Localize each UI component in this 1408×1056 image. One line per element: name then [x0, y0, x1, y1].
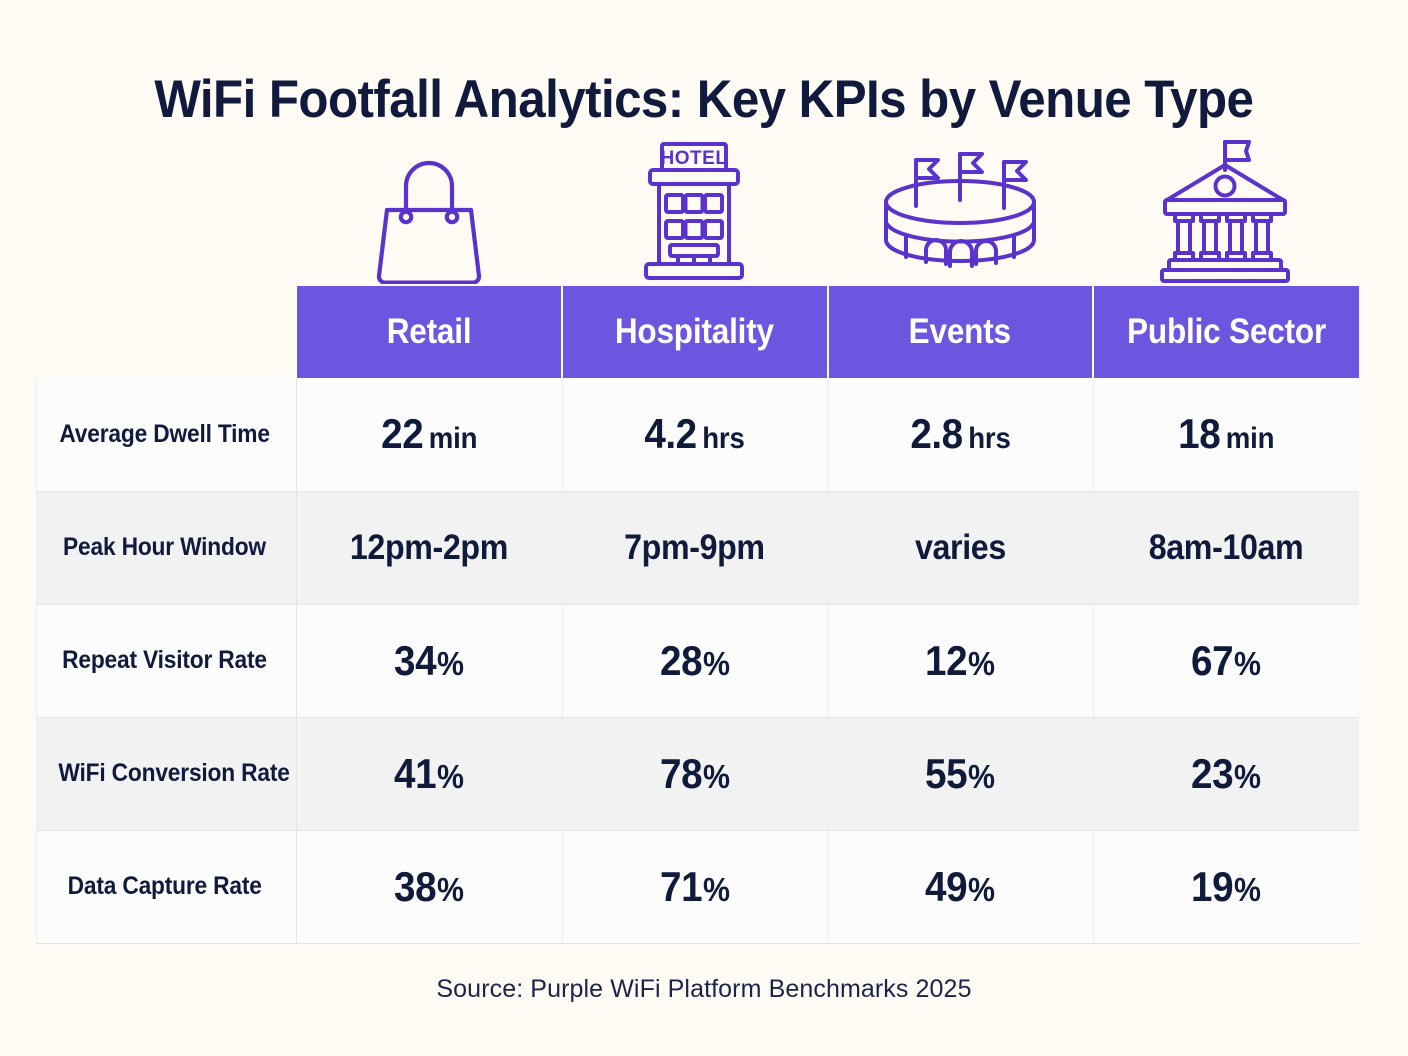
- cell-retail: 34%: [297, 604, 563, 717]
- cell-value: 2.8hrs: [910, 410, 1010, 458]
- cell-unit: %: [703, 645, 730, 682]
- cell-unit: %: [437, 871, 464, 908]
- row-metric-label-cell: WiFi Conversion Rate: [37, 717, 297, 830]
- icon-cell-events: [827, 128, 1093, 286]
- table-row: Peak Hour Window 12pm-2pm 7pm-9pm varies…: [37, 491, 1359, 604]
- cell-unit: %: [968, 758, 995, 795]
- icon-cell-retail: [296, 128, 562, 286]
- cell-unit: hrs: [968, 422, 1010, 455]
- column-header-hospitality: Hospitality: [562, 286, 828, 378]
- icon-cell-hospitality: HOTEL: [562, 128, 828, 286]
- cell-value: 12%: [925, 637, 995, 685]
- cell-value: 38%: [394, 863, 464, 911]
- cell-hospitality: 78%: [562, 717, 828, 830]
- table-body: Average Dwell Time 22min 4.2hrs 2.8hrs 1…: [37, 378, 1359, 943]
- venue-icon-strip: HOTEL: [296, 128, 1358, 286]
- cell-unit: %: [1234, 871, 1261, 908]
- cell-retail: 12pm-2pm: [297, 491, 563, 604]
- government-building-icon: [1157, 134, 1293, 284]
- cell-value: 78%: [660, 750, 730, 798]
- stadium-icon: [876, 140, 1044, 284]
- cell-unit: %: [968, 645, 995, 682]
- cell-unit: %: [437, 758, 464, 795]
- cell-retail: 38%: [297, 830, 563, 943]
- cell-value: 23%: [1191, 750, 1261, 798]
- cell-unit: hrs: [702, 422, 744, 455]
- table-row: Average Dwell Time 22min 4.2hrs 2.8hrs 1…: [37, 378, 1359, 491]
- cell-hospitality: 71%: [562, 830, 828, 943]
- table-header: Retail Hospitality Events Public Sector: [37, 286, 1359, 378]
- column-header-retail: Retail: [297, 286, 563, 378]
- cell-value: 55%: [925, 750, 995, 798]
- cell-number: 55: [925, 750, 967, 797]
- cell-public-sector: 67%: [1093, 604, 1359, 717]
- cell-value: 8am-10am: [1149, 528, 1304, 568]
- cell-public-sector: 23%: [1093, 717, 1359, 830]
- cell-unit: %: [1234, 645, 1261, 682]
- cell-value: 19%: [1191, 863, 1261, 911]
- table-corner-cell: [37, 286, 297, 378]
- cell-number: 71: [660, 863, 702, 910]
- column-header-label: Events: [909, 312, 1011, 352]
- column-header-label: Hospitality: [615, 312, 774, 352]
- cell-number: 38: [394, 863, 436, 910]
- cell-events: 12%: [828, 604, 1094, 717]
- cell-value: 34%: [394, 637, 464, 685]
- cell-public-sector: 8am-10am: [1093, 491, 1359, 604]
- cell-hospitality: 7pm-9pm: [562, 491, 828, 604]
- column-header-label: Retail: [386, 312, 471, 352]
- row-metric-label-cell: Peak Hour Window: [37, 491, 297, 604]
- row-metric-label-cell: Repeat Visitor Rate: [37, 604, 297, 717]
- page-title: WiFi Footfall Analytics: Key KPIs by Ven…: [154, 72, 1253, 128]
- cell-hospitality: 28%: [562, 604, 828, 717]
- icon-cell-public-sector: [1093, 128, 1359, 286]
- cell-value: 4.2hrs: [645, 410, 745, 458]
- row-metric-label-cell: Average Dwell Time: [37, 378, 297, 491]
- column-header-public-sector: Public Sector: [1093, 286, 1359, 378]
- row-metric-label: Data Capture Rate: [67, 872, 261, 901]
- column-header-events: Events: [828, 286, 1094, 378]
- cell-number: 22: [381, 410, 423, 457]
- cell-retail: 41%: [297, 717, 563, 830]
- cell-unit: %: [703, 758, 730, 795]
- cell-value: varies: [915, 528, 1006, 568]
- cell-value: 67%: [1191, 637, 1261, 685]
- column-header-label: Public Sector: [1127, 312, 1326, 352]
- cell-events: 55%: [828, 717, 1094, 830]
- row-metric-label-cell: Data Capture Rate: [37, 830, 297, 943]
- cell-value: 49%: [925, 863, 995, 911]
- cell-value: 71%: [660, 863, 730, 911]
- cell-public-sector: 18min: [1093, 378, 1359, 491]
- cell-events: 49%: [828, 830, 1094, 943]
- cell-number: 78: [660, 750, 702, 797]
- cell-number: 49: [925, 863, 967, 910]
- kpi-table: Retail Hospitality Events Public Sector …: [36, 286, 1359, 944]
- cell-unit: min: [1226, 422, 1275, 455]
- cell-value: 28%: [660, 637, 730, 685]
- cell-number: 2.8: [910, 410, 962, 457]
- cell-events: varies: [828, 491, 1094, 604]
- row-metric-label: WiFi Conversion Rate: [58, 759, 289, 788]
- header-row: Retail Hospitality Events Public Sector: [37, 286, 1359, 378]
- cell-unit: %: [1234, 758, 1261, 795]
- cell-value: 12pm-2pm: [350, 528, 508, 568]
- table-row: WiFi Conversion Rate 41% 78% 55% 23%: [37, 717, 1359, 830]
- cell-value: 22min: [381, 410, 477, 458]
- cell-public-sector: 19%: [1093, 830, 1359, 943]
- cell-number: 4.2: [645, 410, 697, 457]
- cell-number: 19: [1191, 863, 1233, 910]
- row-metric-label: Repeat Visitor Rate: [62, 646, 267, 675]
- cell-value: 41%: [394, 750, 464, 798]
- cell-events: 2.8hrs: [828, 378, 1094, 491]
- hotel-building-icon: HOTEL: [640, 138, 748, 284]
- cell-retail: 22min: [297, 378, 563, 491]
- cell-unit: %: [437, 645, 464, 682]
- cell-number: 41: [394, 750, 436, 797]
- table-row: Repeat Visitor Rate 34% 28% 12% 67%: [37, 604, 1359, 717]
- row-metric-label: Peak Hour Window: [63, 533, 266, 562]
- cell-value: 7pm-9pm: [624, 528, 765, 568]
- cell-hospitality: 4.2hrs: [562, 378, 828, 491]
- cell-value: 18min: [1178, 410, 1274, 458]
- cell-number: 28: [660, 637, 702, 684]
- svg-text:HOTEL: HOTEL: [661, 148, 728, 169]
- table-row: Data Capture Rate 38% 71% 49% 19%: [37, 830, 1359, 943]
- source-caption: Source: Purple WiFi Platform Benchmarks …: [0, 975, 1408, 1004]
- cell-number: 34: [394, 637, 436, 684]
- cell-unit: min: [429, 422, 478, 455]
- cell-number: 18: [1178, 410, 1220, 457]
- row-metric-label: Average Dwell Time: [59, 420, 269, 449]
- shopping-bag-icon: [373, 142, 485, 284]
- cell-number: 67: [1191, 637, 1233, 684]
- cell-number: 12: [925, 637, 967, 684]
- cell-number: 23: [1191, 750, 1233, 797]
- cell-unit: %: [968, 871, 995, 908]
- cell-unit: %: [703, 871, 730, 908]
